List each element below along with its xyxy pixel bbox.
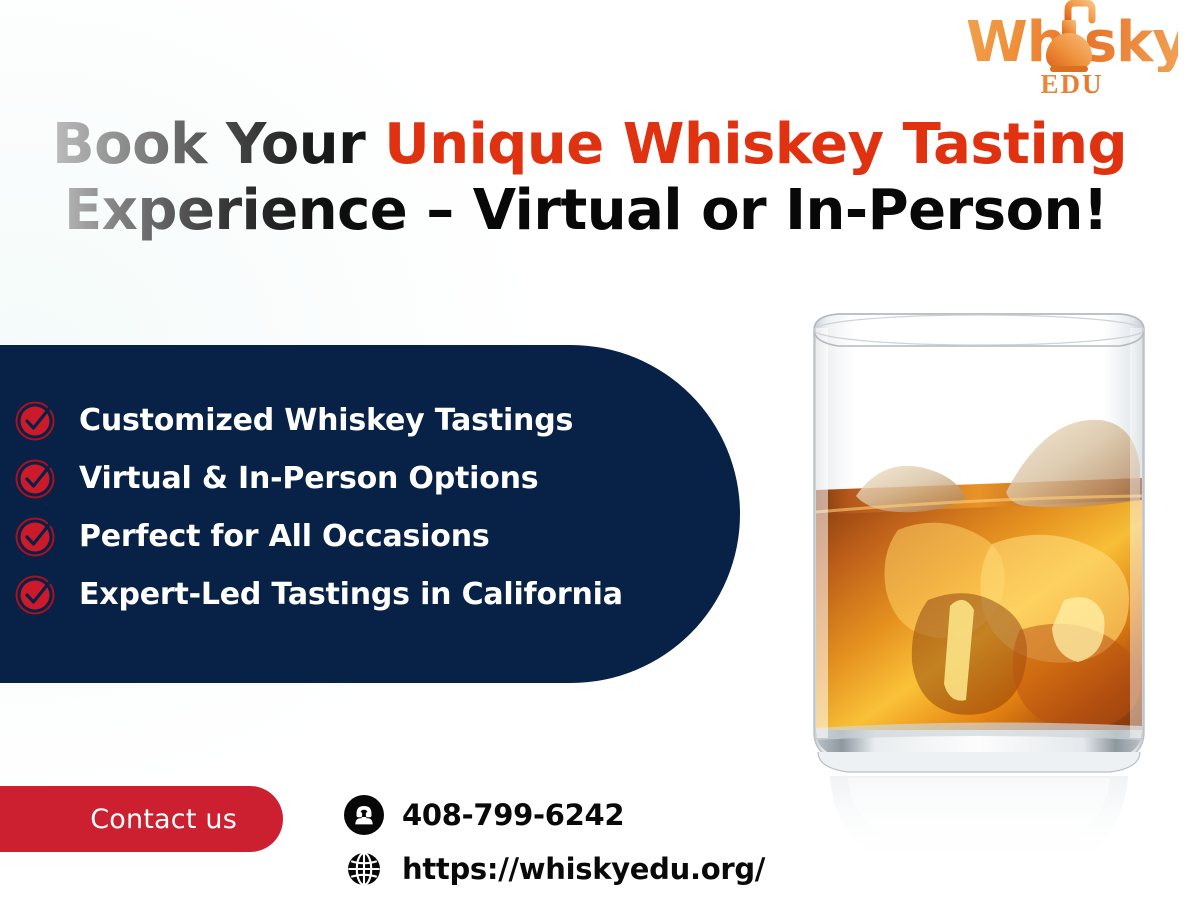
features-list: Customized Whiskey Tastings Virtual & In… <box>15 391 715 623</box>
contact-us-label: Contact us <box>90 804 237 835</box>
feature-label: Virtual & In-Person Options <box>79 461 538 496</box>
feature-item: Perfect for All Occasions <box>15 507 715 565</box>
page-title: Book Your Unique Whiskey Tasting Experie… <box>52 112 1122 244</box>
check-circle-icon <box>15 399 57 441</box>
headline-segment-plain-2: Experience – <box>64 178 473 243</box>
check-circle-icon <box>15 457 57 499</box>
promo-banner: Whisky EDU B <box>0 0 1200 900</box>
check-circle-icon <box>15 573 57 615</box>
logo-word-prefix: Wh <box>966 10 1066 75</box>
contact-details: 408-799-6242 https://whiskyedu.org/ <box>344 792 765 892</box>
headline-line-2: Experience – Virtual or In-Person! <box>52 178 1122 244</box>
brand-logo[interactable]: Whisky EDU <box>966 14 1178 100</box>
headline-line-1: Book Your Unique Whiskey Tasting <box>52 112 1122 178</box>
feature-label: Perfect for All Occasions <box>79 519 490 554</box>
feature-item: Virtual & In-Person Options <box>15 449 715 507</box>
telephone-icon <box>344 795 384 835</box>
headline-segment-accent-1: Unique Whiskey Tasting <box>384 112 1127 177</box>
headline-segment-accent-2: Virtual or In-Person! <box>473 178 1108 243</box>
feature-label: Customized Whiskey Tastings <box>79 403 573 438</box>
phone-number: 408-799-6242 <box>402 798 624 832</box>
hero-image-whiskey-glass <box>778 300 1180 900</box>
headline-segment-plain-1: Book Your <box>52 112 384 177</box>
feature-item: Customized Whiskey Tastings <box>15 391 715 449</box>
check-circle-icon <box>15 515 57 557</box>
logo-wordmark: Whisky <box>966 14 1178 72</box>
features-panel: Customized Whiskey Tastings Virtual & In… <box>0 345 740 683</box>
globe-icon <box>344 849 384 889</box>
feature-label: Expert-Led Tastings in California <box>79 577 623 612</box>
logo-word-suffix: sky <box>1084 10 1188 75</box>
feature-item: Expert-Led Tastings in California <box>15 565 715 623</box>
website-url: https://whiskyedu.org/ <box>402 852 765 886</box>
contact-us-button[interactable]: Contact us <box>0 786 283 852</box>
contact-website-row[interactable]: https://whiskyedu.org/ <box>344 846 765 892</box>
contact-phone-row[interactable]: 408-799-6242 <box>344 792 765 838</box>
whiskey-glass-illustration <box>778 300 1180 900</box>
